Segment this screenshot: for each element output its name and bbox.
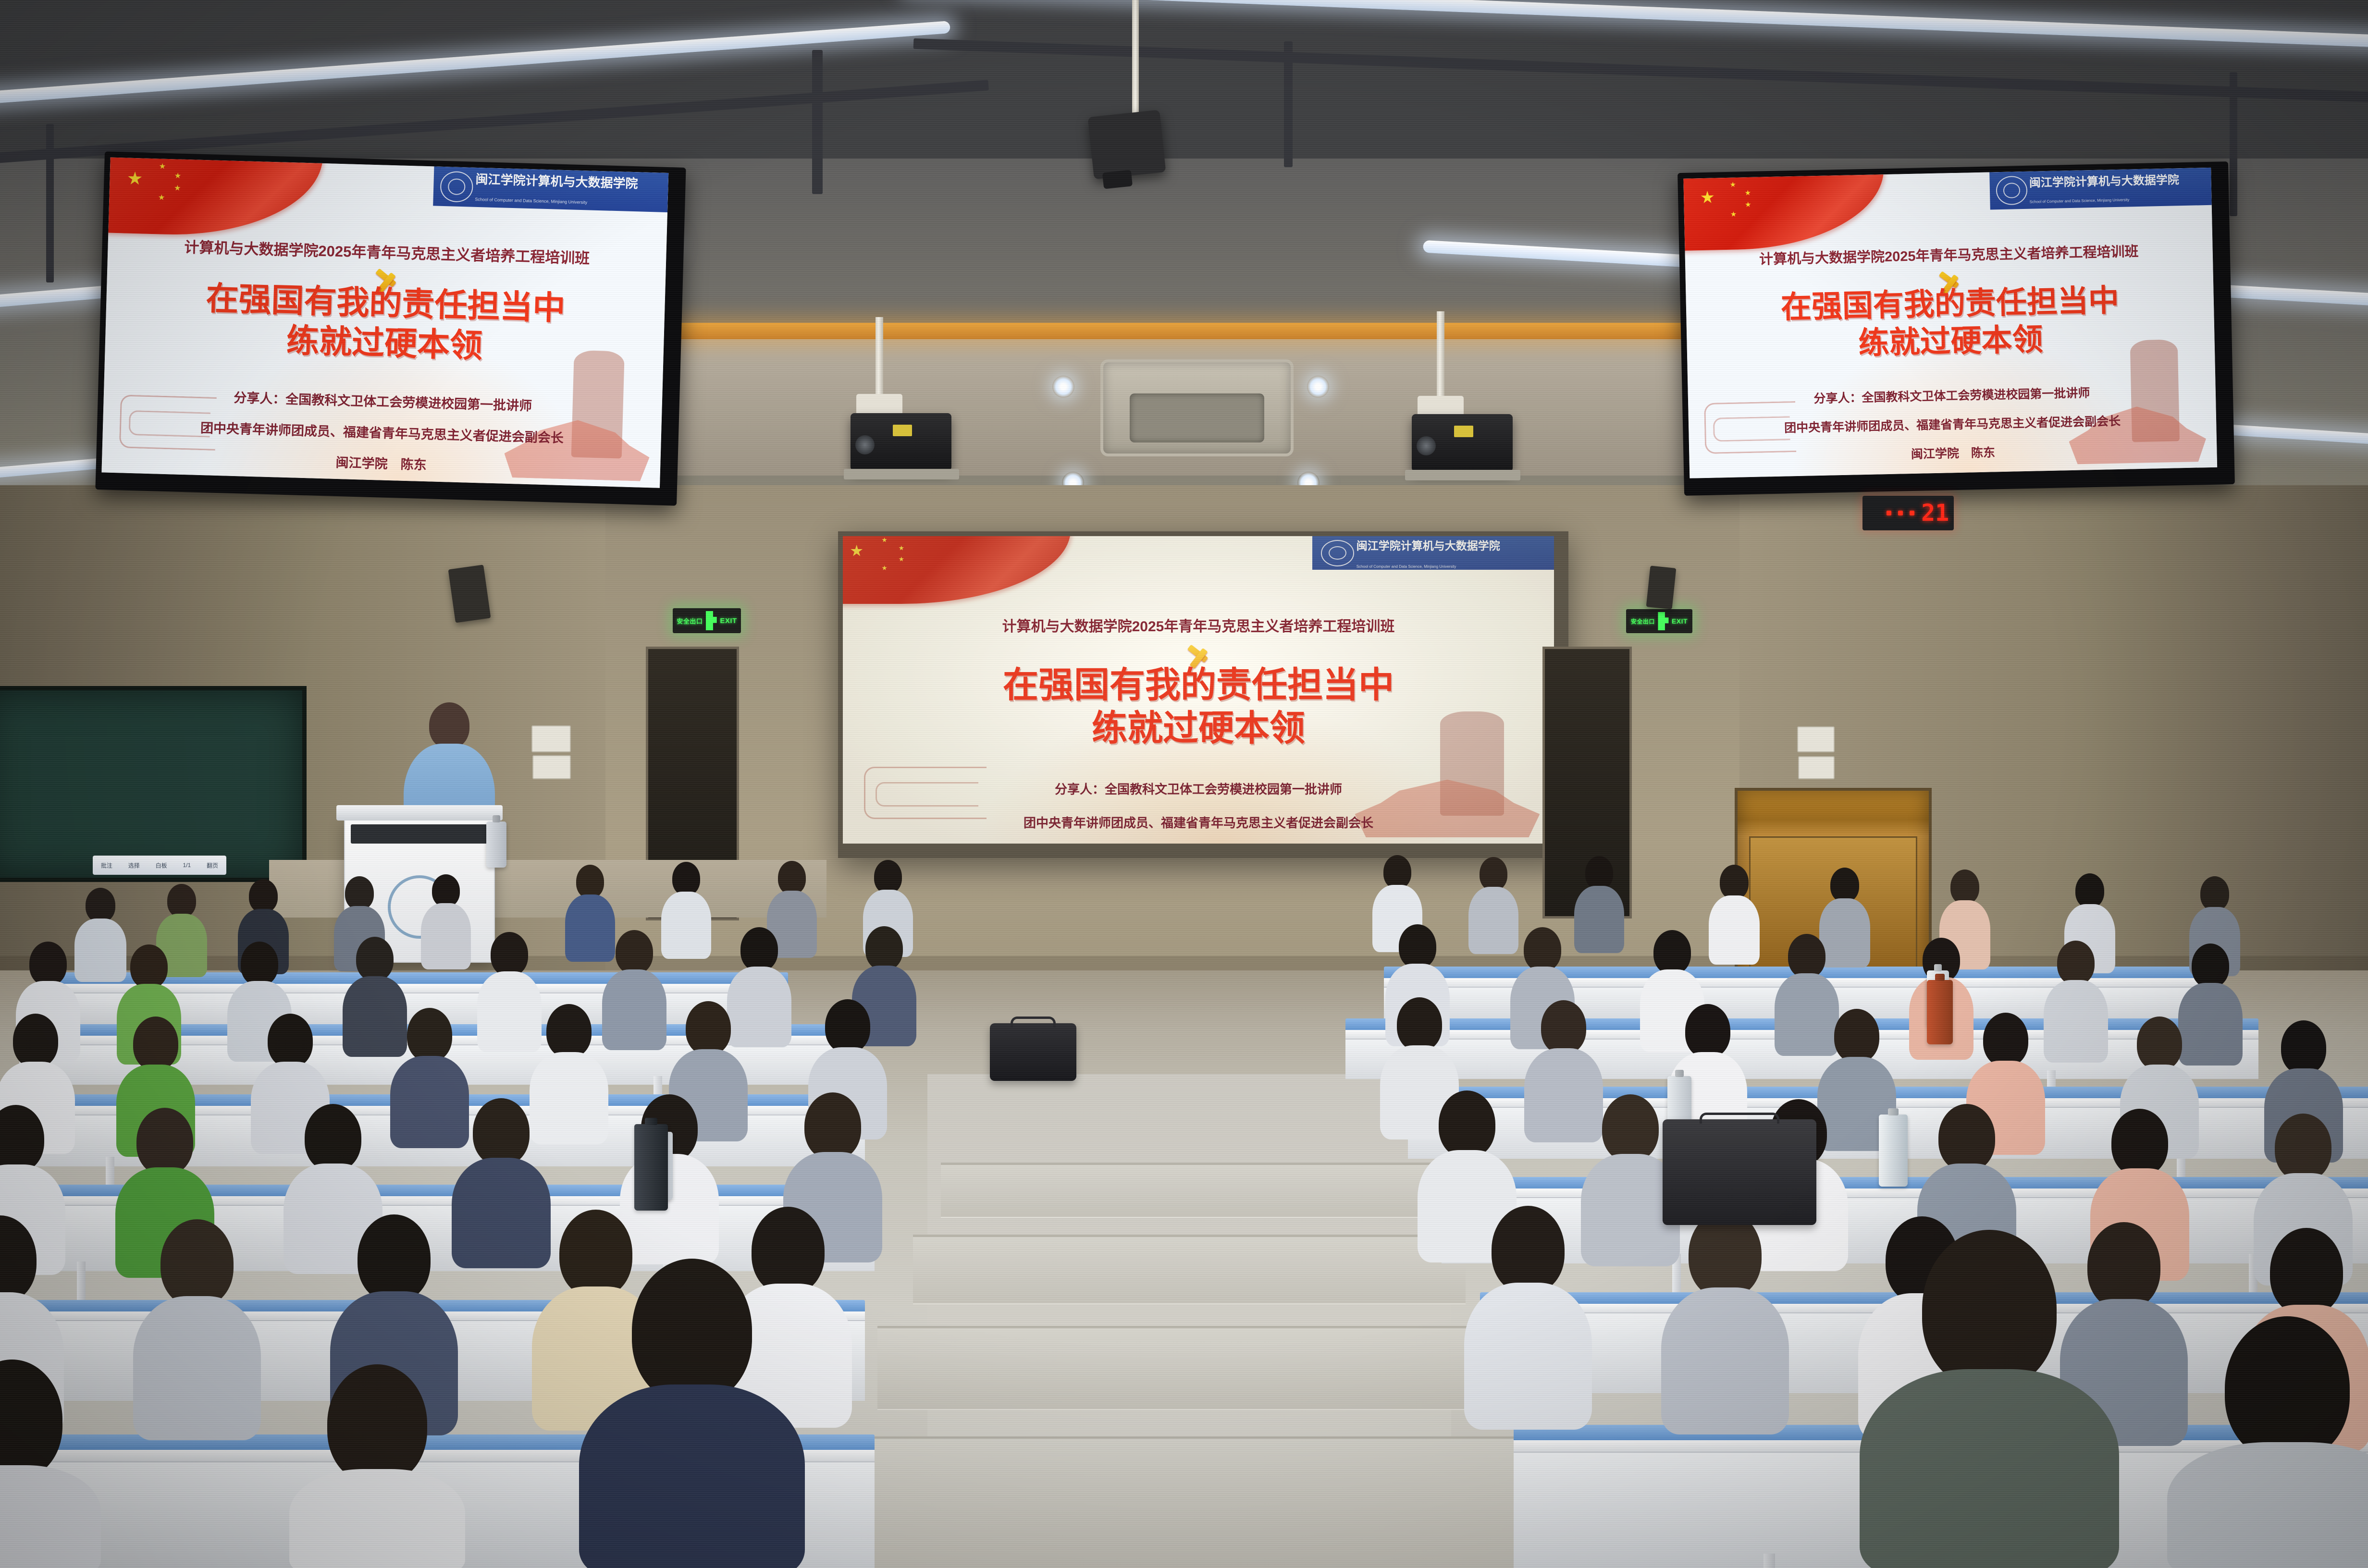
ceiling-projector-left <box>851 413 951 471</box>
school-emblem-icon <box>1321 540 1354 566</box>
audience-member <box>139 1219 255 1426</box>
exit-sign-right-en: EXIT <box>1672 617 1688 625</box>
audience-member <box>394 1008 465 1142</box>
chinese-flag-graphic <box>843 536 1071 604</box>
blackboard-tool-3[interactable]: 1/1 <box>183 862 191 869</box>
slide-title-line1: 在强国有我的责任担当中 <box>1003 663 1394 707</box>
projector-left-lens <box>855 435 875 454</box>
running-man-icon <box>1656 612 1670 630</box>
ceiling-rig-pole <box>1132 0 1139 120</box>
slide-presenter-3: 闽江学院 陈东 <box>1911 443 1996 463</box>
podium-top <box>336 805 503 821</box>
ceiling-beam-vertical-3 <box>1284 41 1293 167</box>
school-logo-banner: 闽江学院计算机与大数据学院 School of Computer and Dat… <box>1312 536 1554 570</box>
left-tv-display[interactable]: 闽江学院计算机与大数据学院 School of Computer and Dat… <box>95 151 686 506</box>
slide-title-line2: 练就过硬本领 <box>286 321 483 366</box>
slide-title-line2: 练就过硬本领 <box>1858 320 2044 362</box>
audience-member <box>298 1364 456 1568</box>
audience-member <box>1778 934 1836 1051</box>
slide-content-right: 闽江学院计算机与大数据学院 School of Computer and Dat… <box>1683 168 2217 478</box>
ceiling-downlight-1 <box>1052 376 1074 398</box>
blackboard-toolbar[interactable]: 批注 选择 白板 1/1 翻页 <box>93 856 226 875</box>
presenter-head <box>429 702 469 748</box>
right-tv-display[interactable]: 闽江学院计算机与大数据学院 School of Computer and Dat… <box>1677 161 2235 496</box>
school-logo-banner: 闽江学院计算机与大数据学院 School of Computer and Dat… <box>1989 168 2212 210</box>
audience-member <box>1711 865 1758 964</box>
audience-member <box>1470 1206 1586 1415</box>
aisle-step-1 <box>941 1163 1436 1218</box>
slide-presenter-1: 分享人：全国教科文卫体工会劳模进校园第一批讲师 <box>1055 780 1342 797</box>
blackboard[interactable]: 批注 选择 白板 1/1 翻页 <box>0 686 307 882</box>
audience-member <box>456 1098 546 1262</box>
decorative-wave <box>864 767 987 819</box>
audience-member <box>2182 1316 2368 1568</box>
audience-member <box>481 932 538 1047</box>
exit-sign-left-cn: 安全出口 <box>677 616 703 625</box>
audience-member <box>2047 941 2105 1058</box>
chinese-flag-graphic <box>1683 169 1885 251</box>
school-emblem-icon <box>1996 176 2027 206</box>
audience-member <box>77 888 124 979</box>
presenter-water-bottle <box>486 821 506 868</box>
slide-header: 计算机与大数据学院2025年青年马克思主义者培养工程培训班 <box>1002 614 1395 636</box>
ceiling-air-conditioner-vent <box>1100 359 1294 456</box>
slide-content-left: 闽江学院计算机与大数据学院 School of Computer and Dat… <box>101 158 668 488</box>
aisle-step-3 <box>877 1326 1502 1410</box>
spotlight-rig-icon <box>1088 110 1166 180</box>
audience-member <box>1528 1000 1599 1137</box>
projector-left-pole <box>876 317 883 400</box>
wall-speaker-left <box>448 564 491 623</box>
school-emblem-icon <box>440 171 473 202</box>
logo-cn-text: 闽江学院计算机与大数据学院 <box>475 172 638 191</box>
slide-header: 计算机与大数据学院2025年青年马克思主义者培养工程培训班 <box>184 235 590 268</box>
slide-content-center: 闽江学院计算机与大数据学院 School of Computer and Dat… <box>843 536 1554 844</box>
exit-sign-left: 安全出口 EXIT <box>673 608 741 633</box>
audience-member <box>1586 1094 1675 1260</box>
podium-monitor <box>351 824 488 844</box>
wall-plate-left <box>531 725 571 752</box>
water-bottle <box>1879 1115 1908 1187</box>
center-projection-screen[interactable]: 闽江学院计算机与大数据学院 School of Computer and Dat… <box>838 531 1568 858</box>
logo-cn-text: 闽江学院计算机与大数据学院 <box>1357 539 1500 552</box>
blackboard-tool-4[interactable]: 翻页 <box>207 861 218 870</box>
wall-plate-right <box>1797 726 1835 752</box>
blackboard-tool-2[interactable]: 白板 <box>156 861 167 870</box>
slide-date: 2025年5月15日 <box>337 483 423 488</box>
audience-member <box>1667 1211 1783 1420</box>
audience-member <box>533 1004 604 1139</box>
slide-title-line2: 练就过硬本领 <box>1092 707 1305 750</box>
wall-plate-right-2 <box>1798 756 1835 779</box>
ceiling-downlight-2 <box>1307 376 1329 398</box>
projector-right-shelf <box>1405 470 1520 480</box>
ceiling-beam-vertical-2 <box>812 50 823 194</box>
led-clock-dots <box>1887 511 1914 515</box>
audience-member <box>591 1259 793 1568</box>
running-man-icon <box>704 611 718 630</box>
logo-en-text: School of Computer and Data Science, Min… <box>1357 564 1456 569</box>
audience-member <box>1470 857 1517 953</box>
projector-right-pole <box>1437 311 1444 402</box>
projector-left-shelf <box>844 469 959 479</box>
audience-member <box>1576 856 1622 952</box>
projector-right-label <box>1454 426 1473 437</box>
logo-en-text: School of Computer and Data Science, Min… <box>475 197 587 205</box>
audience-member <box>605 930 663 1045</box>
soda-bottle <box>1927 980 1953 1044</box>
slide-presenter-2: 团中央青年讲师团成员、福建省青年马克思主义者促进会副会长 <box>1024 813 1373 831</box>
blackboard-tool-0[interactable]: 批注 <box>101 861 112 870</box>
logo-en-text: School of Computer and Data Science, Min… <box>2030 197 2130 204</box>
ceiling-cove-light <box>673 323 1701 339</box>
party-emblem-icon <box>1936 271 1963 272</box>
slide-header: 计算机与大数据学院2025年青年马克思主义者培养工程培训班 <box>1759 240 2139 269</box>
slide-title-line1: 在强国有我的责任担当中 <box>205 279 566 329</box>
wall-plate-left-2 <box>532 755 571 779</box>
party-emblem-icon <box>372 269 401 270</box>
slide-presenter-3: 闽江学院 陈东 <box>335 452 427 473</box>
led-clock-display: 21 <box>1862 496 1954 530</box>
backpack-on-desk <box>1663 1119 1816 1225</box>
projector-left-label <box>893 425 912 436</box>
ceiling-projector-right <box>1412 414 1513 472</box>
decorative-wave <box>1704 401 1796 454</box>
audience-member <box>567 865 613 961</box>
aisle-step-4 <box>834 1436 1545 1568</box>
ceiling-beam-vertical-1 <box>46 124 54 282</box>
backpack-on-floor <box>990 1023 1076 1081</box>
aisle-step-2 <box>913 1235 1466 1304</box>
chinese-flag-graphic <box>101 158 322 239</box>
audience-member <box>423 874 469 968</box>
slide-title-line1: 在强国有我的责任担当中 <box>1780 282 2119 326</box>
logo-cn-text: 闽江学院计算机与大数据学院 <box>2029 174 2179 190</box>
audience-member <box>730 927 788 1042</box>
lecture-hall-photo: 闽江学院计算机与大数据学院 School of Computer and Dat… <box>0 0 2368 1568</box>
blackboard-tool-1[interactable]: 选择 <box>128 861 140 870</box>
exit-sign-right: 安全出口 EXIT <box>1626 609 1692 633</box>
thermos-bottle <box>634 1124 668 1211</box>
audience-member <box>2182 943 2239 1061</box>
audience-member <box>1874 1230 2105 1568</box>
audience-member <box>346 937 404 1052</box>
school-logo-banner: 闽江学院计算机与大数据学院 School of Computer and Dat… <box>433 166 668 212</box>
projector-right-lens <box>1417 436 1436 455</box>
led-clock-value: 21 <box>1921 500 1949 527</box>
audience-member <box>663 862 709 958</box>
exit-sign-left-en: EXIT <box>720 617 737 625</box>
wall-speaker-right <box>1646 565 1677 609</box>
exit-sign-right-cn: 安全出口 <box>1631 617 1655 625</box>
ceiling-beam-vertical-4 <box>2230 72 2237 216</box>
